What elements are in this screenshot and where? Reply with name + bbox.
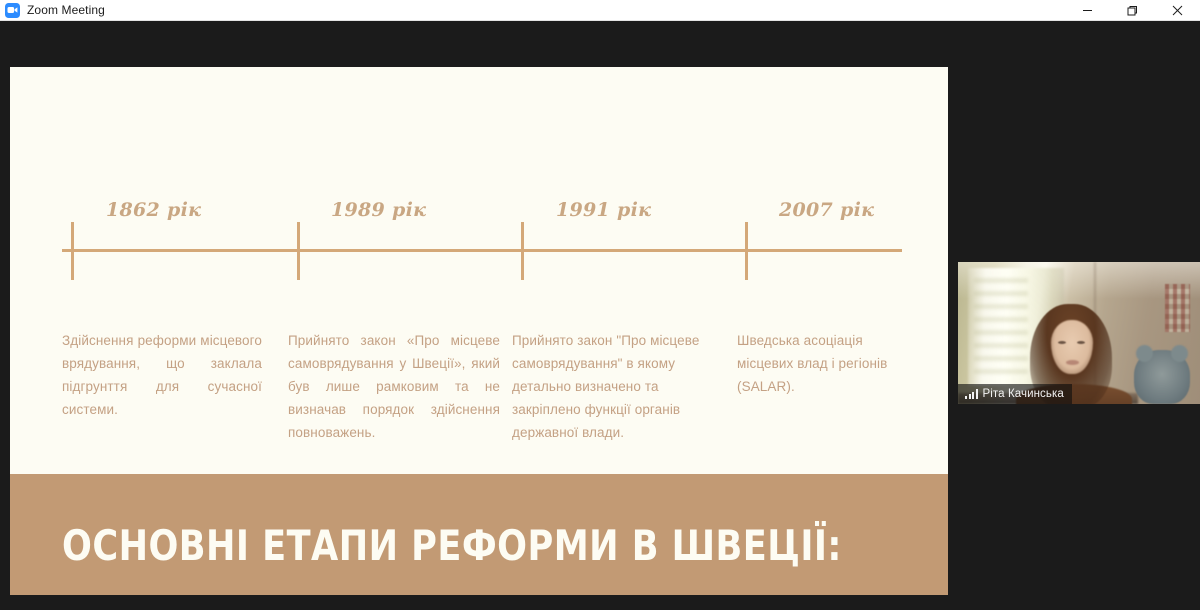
timeline-tick-1 xyxy=(71,222,74,280)
timeline-tick-4 xyxy=(745,222,748,280)
timeline-axis-line xyxy=(62,249,902,252)
timeline-description-2: Прийнято закон «Про місцеве самоврядуван… xyxy=(288,329,500,444)
zoom-video-icon xyxy=(5,3,20,18)
meeting-stage: 1862 рік 1989 рік 1991 рік 2007 рік Здій… xyxy=(0,21,1200,610)
timeline-year-3: 1991 рік xyxy=(556,199,651,221)
timeline-year-4: 2007 рік xyxy=(779,199,874,221)
video-person-eye-left xyxy=(1058,341,1066,344)
timeline-description-1: Здійснення реформи місцевого врядування,… xyxy=(62,329,262,421)
restore-button[interactable] xyxy=(1110,0,1155,21)
timeline-tick-3 xyxy=(521,222,524,280)
window-controls xyxy=(1065,0,1200,21)
shared-screen-slide: 1862 рік 1989 рік 1991 рік 2007 рік Здій… xyxy=(10,67,948,595)
close-button[interactable] xyxy=(1155,0,1200,21)
video-person-mouth xyxy=(1066,360,1079,365)
video-wall-poster xyxy=(1165,284,1190,332)
participant-name-bar: Ріта Качинська xyxy=(958,384,1072,404)
slide-title-band: ОСНОВНІ ЕТАПИ РЕФОРМИ В ШВЕЦІЇ: xyxy=(10,474,948,595)
video-person-eye-right xyxy=(1077,341,1085,344)
window-title: Zoom Meeting xyxy=(27,3,105,17)
timeline-year-2: 1989 рік xyxy=(331,199,426,221)
timeline-description-4: Шведська асоціація місцевих влад і регіо… xyxy=(737,329,917,398)
video-teddy-bear xyxy=(1134,350,1190,404)
timeline-year-1: 1862 рік xyxy=(106,199,201,221)
participant-name: Ріта Качинська xyxy=(983,388,1064,400)
participant-video-tile[interactable]: Ріта Качинська xyxy=(958,262,1200,404)
minimize-button[interactable] xyxy=(1065,0,1110,21)
titlebar-left-group: Zoom Meeting xyxy=(0,3,105,18)
timeline-tick-2 xyxy=(297,222,300,280)
slide-heading: ОСНОВНІ ЕТАПИ РЕФОРМИ В ШВЕЦІЇ: xyxy=(62,524,842,568)
signal-bars-icon xyxy=(965,389,978,399)
window-titlebar: Zoom Meeting xyxy=(0,0,1200,21)
timeline-description-3: Прийнято закон "Про місцеве самоврядуван… xyxy=(512,329,728,444)
timeline-graphic: 1862 рік 1989 рік 1991 рік 2007 рік Здій… xyxy=(10,67,948,474)
